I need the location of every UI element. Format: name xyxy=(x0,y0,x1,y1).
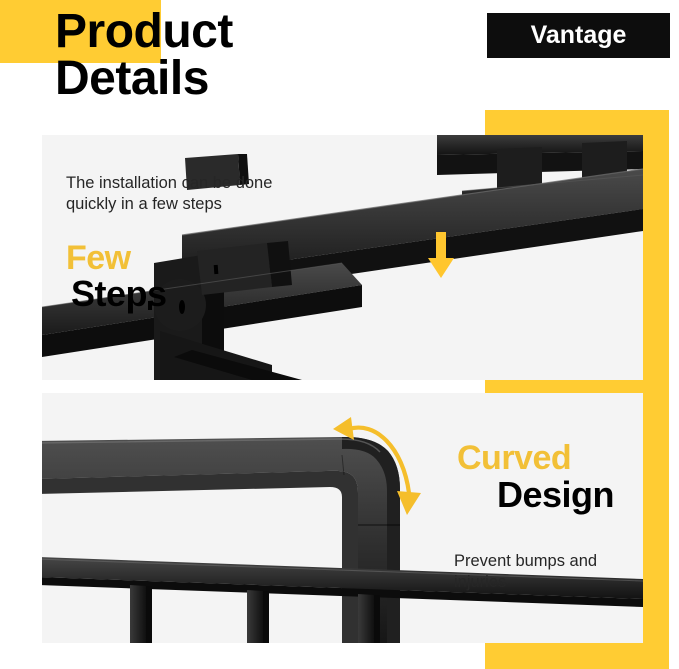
panel-curved-design-description: Prevent bumps and injuries xyxy=(454,551,643,594)
panel-few-steps-description: The installation can be done quickly in … xyxy=(66,173,366,215)
panel-few-steps: The installation can be done quickly in … xyxy=(42,135,643,380)
panel-few-steps-heading-main: Steps xyxy=(71,276,167,312)
curved-double-arrow-icon xyxy=(327,407,427,527)
panel-few-steps-heading-highlight: Few xyxy=(66,241,167,275)
panel-curved-design-heading-main: Design xyxy=(497,477,614,513)
brand-badge-label: Vantage xyxy=(531,21,627,50)
panel-curved-design-heading: Curved Design xyxy=(457,441,614,513)
down-arrow-icon xyxy=(428,232,454,278)
page-title: Product Details xyxy=(55,8,475,102)
panel-few-steps-heading: Few Steps xyxy=(66,241,167,312)
panel-curved-design-heading-highlight: Curved xyxy=(457,441,614,475)
brand-badge: Vantage xyxy=(487,13,670,58)
panel-curved-design: Curved Design Prevent bumps and injuries xyxy=(42,393,643,643)
infographic-canvas: Product Details Vantage xyxy=(0,0,679,669)
